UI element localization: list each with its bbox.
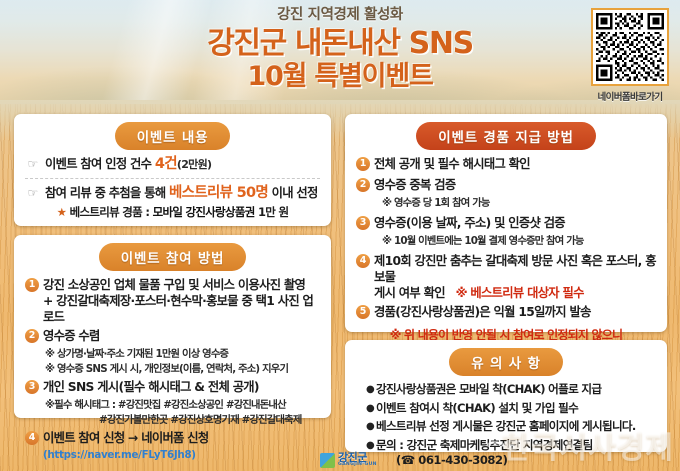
prize-item-1: 1 전체 공개 및 필수 해시태그 확인 [356,156,656,172]
event-content-star-note: ★ 베스트리뷰 경품 : 모바일 강진사랑상품권 1만 원 [25,205,320,220]
participation-item-2-line-1: 영수증 수렴 [43,328,320,344]
panel-title-notices: 유 의 사 항 [449,348,562,376]
header-title-line1: 강진군 내돈내산 SNS [0,26,680,61]
star-note-bold: 모바일 강진사랑상품권 [153,205,255,219]
prize-item-4-line-1: 제10회 강진만 춤추는 갈대축제 방문 사진 혹은 포스터, 홍보물 [374,254,656,284]
poster-canvas: 강진 지역경제 활성화 강진군 내돈내산 SNS 10월 특별이벤트 [0,0,680,471]
prize-item-3: 3 영수증(이용 날짜, 주소) 및 인증샷 검증 [356,215,656,231]
bullet-icon: ● [366,382,376,397]
participation-item-1: 1 강진 소상공인 업체 물품 구입 및 서비스 이용사진 촬영 + 강진갈대축… [25,277,320,325]
star-icon: ★ [57,205,67,219]
prize-item-4: 4 제10회 강진만 춤추는 갈대축제 방문 사진 혹은 포스터, 홍보물 게시… [356,253,656,301]
participation-item-3: 3 개인 SNS 게시(필수 해시태그 & 전체 공개) [25,379,320,395]
event-item-1-highlight: 4건 [155,156,177,172]
prize-item-3-line-1: 영수증(이용 날짜, 주소) 및 인증샷 검증 [374,215,656,231]
panel-title-participation-method: 이벤트 참여 방법 [99,243,247,271]
panel-title-prize-payment: 이벤트 경품 지급 방법 [416,122,595,150]
pointing-hand-icon: ☞ [25,156,40,172]
event-item-2-text-before: 참여 리뷰 중 추첨을 통해 [45,186,169,200]
step-number-icon: 4 [25,431,39,445]
step-number-icon: 3 [356,216,370,230]
pointing-hand-icon: ☞ [25,185,40,201]
event-item-1-text-before: 이벤트 참여 인정 건수 [45,157,155,171]
event-item-1-text-after: (2만원) [177,158,211,171]
gangjin-logo-en: GANGJIN-GUN [338,463,377,468]
step-number-icon: 4 [356,254,370,268]
prize-item-1-line-1: 전체 공개 및 필수 해시태그 확인 [374,156,656,172]
prize-item-5-line-1: 경품(강진사랑상품권)은 익월 15일까지 발송 [374,304,656,320]
naver-form-link[interactable]: (https://naver.me/FLyT6Jh8) [43,449,196,461]
gangjin-gun-logo: 강진군 GANGJIN-GUN [320,452,377,468]
step-number-icon: 2 [25,329,39,343]
header-title-line2: 10월 특별이벤트 [0,61,680,93]
participation-item-2: 2 영수증 수렴 [25,328,320,344]
step-number-icon: 5 [356,305,370,319]
panel-event-content: 이벤트 내용 ☞ 이벤트 참여 인정 건수 4건(2만원) ☞ 참여 리뷰 중 … [14,114,331,226]
notice-item-1-text: 강진사랑상품권은 모바일 착(CHAK) 어플로 지급 [376,382,656,397]
event-item-2-highlight: 베스트리뷰 50명 [169,185,268,201]
panel-prize-payment: 이벤트 경품 지급 방법 1 전체 공개 및 필수 해시태그 확인 2 영수증 … [345,114,667,332]
participation-item-3-note-1: ※필수 해시태그 : #강진맛집 #강진소상공인 #강진내돈내산 [25,398,320,412]
notice-item-2: ● 이벤트 참여시 착(CHAK) 설치 및 가입 필수 [356,401,656,416]
step-number-icon: 1 [356,157,370,171]
participation-item-4: 4 이벤트 참여 신청 → 네이버폼 신청(https://naver.me/F… [25,430,320,463]
header-subtitle: 강진 지역경제 활성화 [0,6,680,24]
panel-participation-method: 이벤트 참여 방법 1 강진 소상공인 업체 물품 구입 및 서비스 이용사진 … [14,235,331,418]
notice-item-2-text: 이벤트 참여시 착(CHAK) 설치 및 가입 필수 [376,401,656,416]
step-number-icon: 2 [356,178,370,192]
prize-item-2: 2 영수증 중복 검증 [356,177,656,193]
star-note-label: 베스트리뷰 경품 : [70,205,153,219]
notice-item-1: ● 강진사랑상품권은 모바일 착(CHAK) 어플로 지급 [356,382,656,397]
panel-title-event-content: 이벤트 내용 [115,122,231,150]
step-number-icon: 3 [25,380,39,394]
prize-item-4-red-note: ※ 베스트리뷰 대상자 필수 [456,286,584,300]
qr-caption: 네이버폼바로가기 [589,89,671,103]
event-item-2-text-after: 이내 선정 [268,186,318,200]
qr-code-icon[interactable] [591,8,669,86]
prize-item-3-note-1: ※ 10월 이벤트에는 10월 결제 영수증만 참여 가능 [356,234,656,248]
prize-item-2-note-1: ※ 영수증 당 1회 참여 가능 [356,196,656,210]
bullet-icon: ● [366,438,376,453]
qr-code-block[interactable]: 네이버폼바로가기 [589,8,671,103]
participation-item-4-line-1: 이벤트 참여 신청 → 네이버폼 신청 [43,431,208,445]
prize-item-2-line-1: 영수증 중복 검증 [374,177,656,193]
step-number-icon: 1 [25,278,39,292]
poster-header: 강진 지역경제 활성화 강진군 내돈내산 SNS 10월 특별이벤트 [0,6,680,93]
bullet-icon: ● [366,419,376,434]
bullet-icon: ● [366,401,376,416]
participation-item-2-note-1: ※ 상가명·날짜·주소 기재된 1만원 이상 영수증 [25,347,320,361]
star-note-suffix: 1만 원 [255,205,289,219]
event-content-item-1: ☞ 이벤트 참여 인정 건수 4건(2만원) [25,156,320,173]
event-content-item-2: ☞ 참여 리뷰 중 추첨을 통해 베스트리뷰 50명 이내 선정 [25,185,320,201]
divider-dashed [25,178,320,179]
participation-item-2-note-2: ※ 영수증 SNS 게시 시, 개인정보(이름, 연락처, 주소) 지우기 [25,362,320,376]
participation-item-1-line-1: 강진 소상공인 업체 물품 구입 및 서비스 이용사진 촬영 [43,278,305,292]
prize-item-5: 5 경품(강진사랑상품권)은 익월 15일까지 발송 [356,304,656,320]
prize-item-4-line-2: 게시 여부 확인 [374,286,445,300]
participation-item-3-line-1: 개인 SNS 게시(필수 해시태그 & 전체 공개) [43,379,320,395]
participation-item-1-line-2: + 강진갈대축제장·포스터·현수막·홍보물 중 택1 사진 업로드 [43,294,313,324]
participation-item-3-note-2: #강진가볼만한곳 #강진상호명기재 #강진갈대축제 [25,413,320,427]
gangjin-emblem-icon [320,453,335,468]
press-watermark: 한국시사경제 [502,423,674,467]
